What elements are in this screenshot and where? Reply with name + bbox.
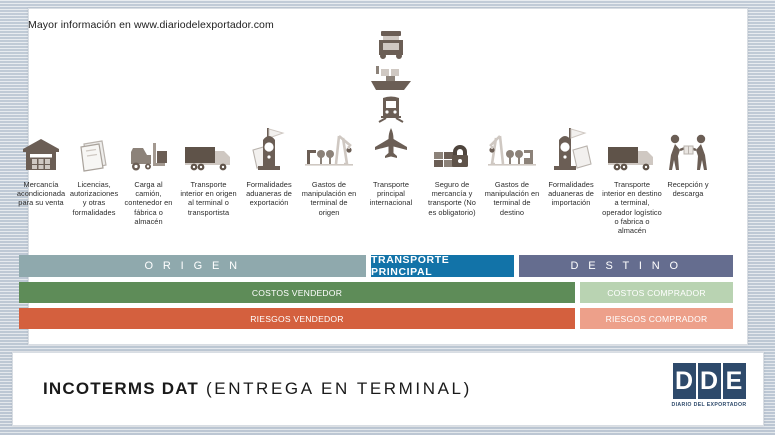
step-label: Gastos de manipulación en terminal de or… bbox=[298, 180, 360, 217]
truck-icon bbox=[600, 112, 664, 172]
step-label: Mercancía acondicionada para su venta bbox=[14, 180, 68, 208]
phase-label: O R I G E N bbox=[144, 260, 240, 272]
title-normal: (ENTREGA EN TERMINAL) bbox=[206, 379, 472, 399]
logo-letter: D bbox=[698, 363, 721, 399]
multimodal-transport-icon bbox=[370, 30, 412, 158]
step-label: Gastos de manipulación en terminal de de… bbox=[482, 180, 542, 217]
step-recepcion[interactable]: Recepción y descarga bbox=[664, 112, 712, 252]
logo-letter-boxes: D D E bbox=[673, 363, 746, 399]
insurance-lock-icon bbox=[422, 112, 482, 172]
logo-caption: DIARIO DEL EXPORTADOR bbox=[672, 402, 747, 408]
step-label: Transporte interior en origen al termina… bbox=[177, 180, 240, 217]
documents-icon bbox=[68, 112, 120, 172]
warehouse-icon bbox=[14, 112, 68, 172]
title-bold: INCOTERMS DAT bbox=[43, 379, 199, 399]
logo-letter: D bbox=[673, 363, 696, 399]
step-label: Seguro de mercancía y transporte (No es … bbox=[422, 180, 482, 217]
bar-riesgos-comprador[interactable]: RIESGOS COMPRADOR bbox=[580, 308, 733, 329]
cargo-ship-icon bbox=[370, 64, 412, 92]
phase-bar-origen[interactable]: O R I G E N bbox=[19, 255, 366, 277]
phase-label: D E S T I N O bbox=[570, 260, 681, 272]
bar-costos-vendedor[interactable]: COSTOS VENDEDOR bbox=[19, 282, 575, 303]
truck-icon bbox=[177, 112, 240, 172]
phase-bar-transporte-principal[interactable]: TRANSPORTE PRINCIPAL bbox=[371, 255, 514, 277]
step-label: Recepción y descarga bbox=[664, 180, 712, 198]
step-carga-camion[interactable]: Carga al camión, contenedor en fábrica o… bbox=[120, 112, 177, 252]
step-seguro[interactable]: Seguro de mercancía y transporte (No es … bbox=[422, 112, 482, 252]
phase-label: TRANSPORTE PRINCIPAL bbox=[371, 254, 514, 278]
step-formalidades-export[interactable]: Formalidades aduaneras de exportación bbox=[240, 112, 298, 252]
phase-bar-row: O R I G E N TRANSPORTE PRINCIPAL D E S T… bbox=[19, 255, 733, 277]
header-note: Mayor información en www.diariodelexport… bbox=[28, 19, 274, 31]
bar-label: COSTOS COMPRADOR bbox=[607, 288, 706, 298]
dde-logo[interactable]: D D E DIARIO DEL EXPORTADOR bbox=[667, 363, 751, 408]
costs-bar-row: COSTOS VENDEDOR COSTOS COMPRADOR bbox=[19, 282, 733, 303]
truck-front-icon bbox=[374, 30, 408, 60]
step-gastos-manip-origen[interactable]: Gastos de manipulación en terminal de or… bbox=[298, 112, 360, 252]
step-label: Formalidades aduaneras de importación bbox=[542, 180, 600, 208]
customs-office-icon bbox=[542, 112, 600, 172]
bar-label: RIESGOS VENDEDOR bbox=[250, 314, 343, 324]
step-label: Transporte interior en destino a termina… bbox=[600, 180, 664, 235]
train-icon bbox=[375, 96, 407, 124]
bar-costos-comprador[interactable]: COSTOS COMPRADOR bbox=[580, 282, 733, 303]
page-title: INCOTERMS DAT (ENTREGA EN TERMINAL) bbox=[43, 353, 472, 425]
airplane-icon bbox=[373, 128, 409, 158]
step-formalidades-import[interactable]: Formalidades aduaneras de importación bbox=[542, 112, 600, 252]
step-label: Licencias, autorizaciones y otras formal… bbox=[68, 180, 120, 217]
step-label: Formalidades aduaneras de exportación bbox=[240, 180, 298, 208]
step-gastos-manip-destino[interactable]: Gastos de manipulación en terminal de de… bbox=[482, 112, 542, 252]
steps-row: Mercancía acondicionada para su venta Li… bbox=[14, 112, 762, 252]
step-transporte-destino[interactable]: Transporte interior en destino a termina… bbox=[600, 112, 664, 252]
port-crane-icon bbox=[482, 112, 542, 172]
logo-letter: E bbox=[723, 363, 746, 399]
step-transporte-origen[interactable]: Transporte interior en origen al termina… bbox=[177, 112, 240, 252]
bar-label: RIESGOS COMPRADOR bbox=[606, 314, 708, 324]
bar-label: COSTOS VENDEDOR bbox=[252, 288, 342, 298]
infographic-root: Mayor información en www.diariodelexport… bbox=[0, 0, 775, 435]
phase-bar-destino[interactable]: D E S T I N O bbox=[519, 255, 733, 277]
risks-bar-row: RIESGOS VENDEDOR RIESGOS COMPRADOR bbox=[19, 308, 733, 329]
responsibility-bars: O R I G E N TRANSPORTE PRINCIPAL D E S T… bbox=[19, 255, 733, 334]
step-transporte-principal[interactable]: Transporte principal internacional bbox=[360, 112, 422, 252]
title-card: INCOTERMS DAT (ENTREGA EN TERMINAL) D D … bbox=[12, 352, 764, 426]
forklift-icon bbox=[120, 112, 177, 172]
step-label: Transporte principal internacional bbox=[360, 180, 422, 208]
bar-riesgos-vendedor[interactable]: RIESGOS VENDEDOR bbox=[19, 308, 575, 329]
port-crane-icon bbox=[298, 112, 360, 172]
step-licencias[interactable]: Licencias, autorizaciones y otras formal… bbox=[68, 112, 120, 252]
customs-office-icon bbox=[240, 112, 298, 172]
step-label: Carga al camión, contenedor en fábrica o… bbox=[120, 180, 177, 226]
handover-people-icon bbox=[664, 112, 712, 172]
step-mercancia[interactable]: Mercancía acondicionada para su venta bbox=[14, 112, 68, 252]
